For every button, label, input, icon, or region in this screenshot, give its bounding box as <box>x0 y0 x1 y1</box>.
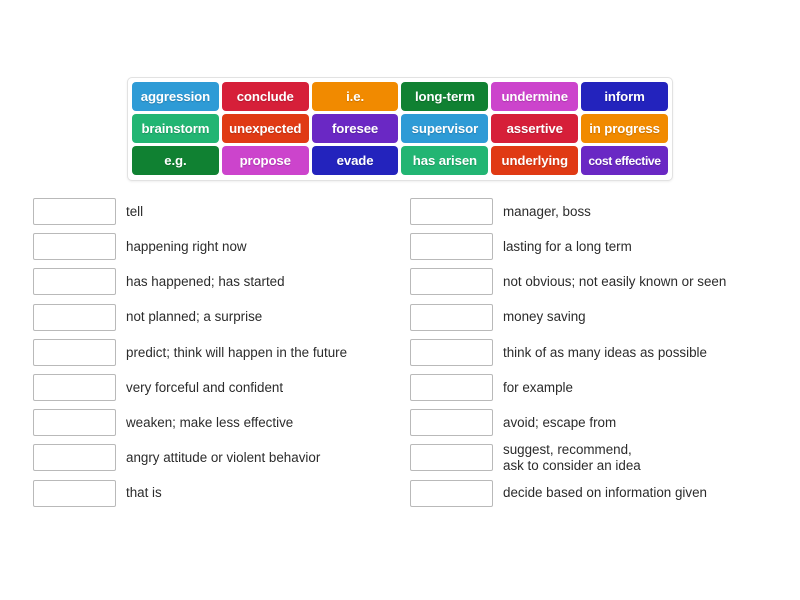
answer-row: for example <box>410 370 790 405</box>
answer-drop-box[interactable] <box>410 374 493 401</box>
definition-text: very forceful and confident <box>126 380 283 396</box>
answer-row: weaken; make less effective <box>33 405 408 440</box>
definitions-right-column: manager, bosslasting for a long termnot … <box>410 194 790 511</box>
answer-drop-box[interactable] <box>33 409 116 436</box>
definition-text: lasting for a long term <box>503 239 632 255</box>
word-tile[interactable]: propose <box>222 146 309 175</box>
word-tile[interactable]: long-term <box>401 82 488 111</box>
answer-row: decide based on information given <box>410 476 790 511</box>
answer-row: money saving <box>410 300 790 335</box>
definition-text: manager, boss <box>503 204 591 220</box>
tile-row: brainstormunexpectedforeseesupervisorass… <box>132 114 668 143</box>
definition-text: has happened; has started <box>126 274 285 290</box>
definition-text: weaken; make less effective <box>126 415 293 431</box>
definition-text: that is <box>126 485 162 501</box>
definition-text: not obvious; not easily known or seen <box>503 274 726 290</box>
word-tile[interactable]: cost effective <box>581 146 668 175</box>
definition-text: happening right now <box>126 239 247 255</box>
definition-text: suggest, recommend, ask to consider an i… <box>503 442 641 473</box>
word-tile[interactable]: supervisor <box>401 114 488 143</box>
answer-drop-box[interactable] <box>410 444 493 471</box>
answer-row: angry attitude or violent behavior <box>33 440 408 475</box>
tile-row: e.g.proposeevadehas arisenunderlyingcost… <box>132 146 668 175</box>
answer-drop-box[interactable] <box>33 480 116 507</box>
word-tile[interactable]: brainstorm <box>132 114 219 143</box>
word-tile[interactable]: conclude <box>222 82 309 111</box>
word-tile[interactable]: unexpected <box>222 114 309 143</box>
definition-text: for example <box>503 380 573 396</box>
word-tile-bank: aggressionconcludei.e.long-termundermine… <box>127 77 673 181</box>
definition-text: angry attitude or violent behavior <box>126 450 320 466</box>
answer-drop-box[interactable] <box>33 198 116 225</box>
answer-drop-box[interactable] <box>33 339 116 366</box>
answer-row: happening right now <box>33 229 408 264</box>
answer-row: manager, boss <box>410 194 790 229</box>
word-tile[interactable]: has arisen <box>401 146 488 175</box>
answer-drop-box[interactable] <box>410 198 493 225</box>
answer-row: very forceful and confident <box>33 370 408 405</box>
definitions-left-column: tellhappening right nowhas happened; has… <box>33 194 408 511</box>
word-tile[interactable]: undermine <box>491 82 578 111</box>
answer-drop-box[interactable] <box>410 480 493 507</box>
answer-drop-box[interactable] <box>410 304 493 331</box>
answer-drop-box[interactable] <box>33 444 116 471</box>
answer-drop-box[interactable] <box>410 339 493 366</box>
definition-text: money saving <box>503 309 586 325</box>
word-tile[interactable]: underlying <box>491 146 578 175</box>
word-tile[interactable]: aggression <box>132 82 219 111</box>
word-tile[interactable]: in progress <box>581 114 668 143</box>
answer-drop-box[interactable] <box>33 374 116 401</box>
definition-text: think of as many ideas as possible <box>503 345 707 361</box>
definition-text: not planned; a surprise <box>126 309 262 325</box>
answer-drop-box[interactable] <box>33 268 116 295</box>
answer-drop-box[interactable] <box>33 304 116 331</box>
definition-text: avoid; escape from <box>503 415 616 431</box>
answer-drop-box[interactable] <box>410 233 493 260</box>
answer-row: that is <box>33 476 408 511</box>
answer-drop-box[interactable] <box>410 268 493 295</box>
word-tile[interactable]: i.e. <box>312 82 399 111</box>
word-tile[interactable]: assertive <box>491 114 578 143</box>
tile-row: aggressionconcludei.e.long-termundermine… <box>132 82 668 111</box>
answer-drop-box[interactable] <box>410 409 493 436</box>
answer-row: predict; think will happen in the future <box>33 335 408 370</box>
word-tile[interactable]: evade <box>312 146 399 175</box>
definition-text: predict; think will happen in the future <box>126 345 347 361</box>
answer-row: not planned; a surprise <box>33 300 408 335</box>
answer-row: think of as many ideas as possible <box>410 335 790 370</box>
definition-text: tell <box>126 204 143 220</box>
answer-row: avoid; escape from <box>410 405 790 440</box>
word-tile[interactable]: foresee <box>312 114 399 143</box>
word-tile[interactable]: inform <box>581 82 668 111</box>
answer-row: tell <box>33 194 408 229</box>
answer-row: suggest, recommend, ask to consider an i… <box>410 440 790 475</box>
answer-drop-box[interactable] <box>33 233 116 260</box>
answer-row: has happened; has started <box>33 264 408 299</box>
definition-text: decide based on information given <box>503 485 707 501</box>
answer-row: not obvious; not easily known or seen <box>410 264 790 299</box>
word-tile[interactable]: e.g. <box>132 146 219 175</box>
answer-row: lasting for a long term <box>410 229 790 264</box>
